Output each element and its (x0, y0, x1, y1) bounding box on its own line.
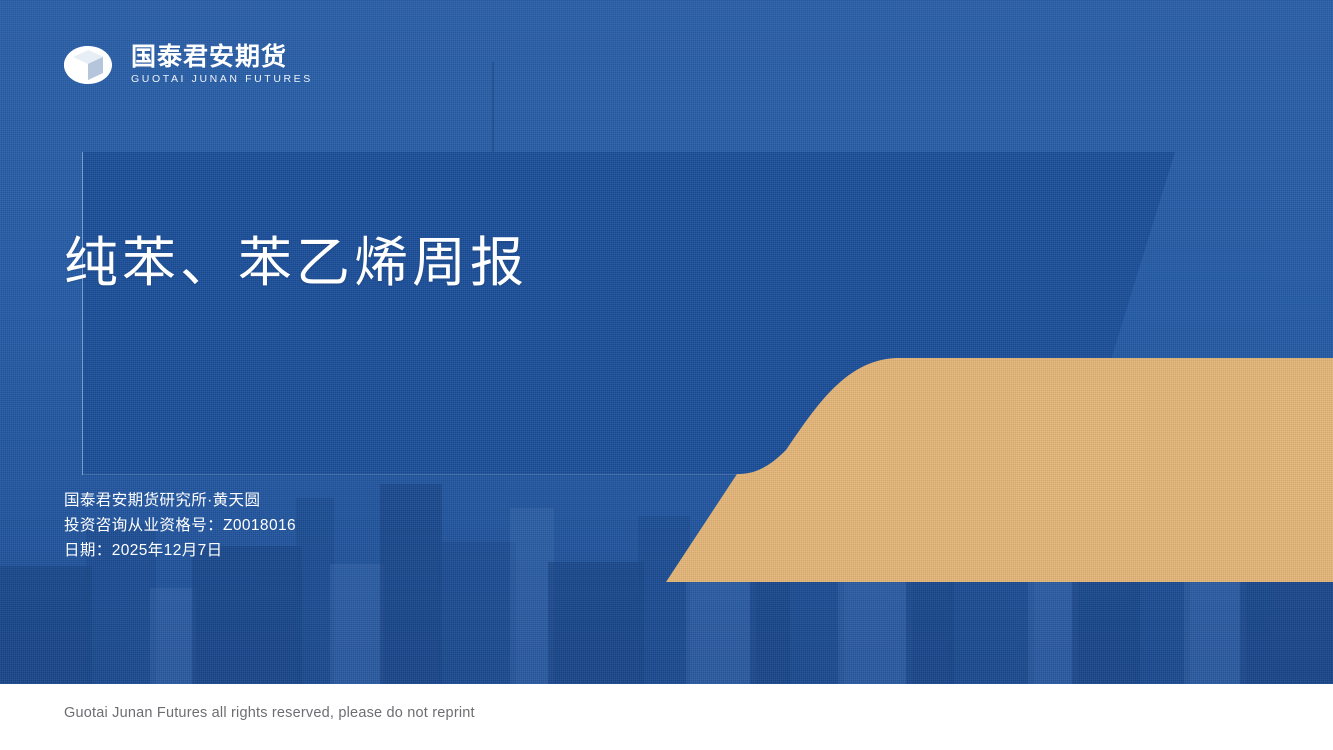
byline-block: 国泰君安期货研究所·黄天圆 投资咨询从业资格号：Z0018016 日期：2025… (64, 488, 296, 563)
gold-shape (666, 358, 1333, 582)
byline-date: 日期：2025年12月7日 (64, 538, 296, 563)
byline-author: 国泰君安期货研究所·黄天圆 (64, 488, 296, 513)
frame-vertical-rule (82, 152, 83, 475)
gold-curved-band (666, 358, 1333, 582)
byline-license-no: 投资咨询从业资格号：Z0018016 (64, 513, 296, 538)
brand-name-cn: 国泰君安期货 (131, 44, 313, 71)
guotai-junan-hexagon-lens-icon (62, 44, 114, 86)
footer-copyright: Guotai Junan Futures all rights reserved… (64, 705, 475, 721)
report-cover-slide: 国泰君安期货 GUOTAI JUNAN FUTURES 纯苯、苯乙烯周报 国泰君… (0, 0, 1333, 750)
page-title: 纯苯、苯乙烯周报 (64, 232, 528, 294)
brand-name-en: GUOTAI JUNAN FUTURES (131, 73, 313, 86)
brand-logo-text: 国泰君安期货 GUOTAI JUNAN FUTURES (126, 44, 313, 86)
cover-background-art (0, 0, 1333, 684)
brand-logo: 国泰君安期货 GUOTAI JUNAN FUTURES (62, 44, 313, 86)
